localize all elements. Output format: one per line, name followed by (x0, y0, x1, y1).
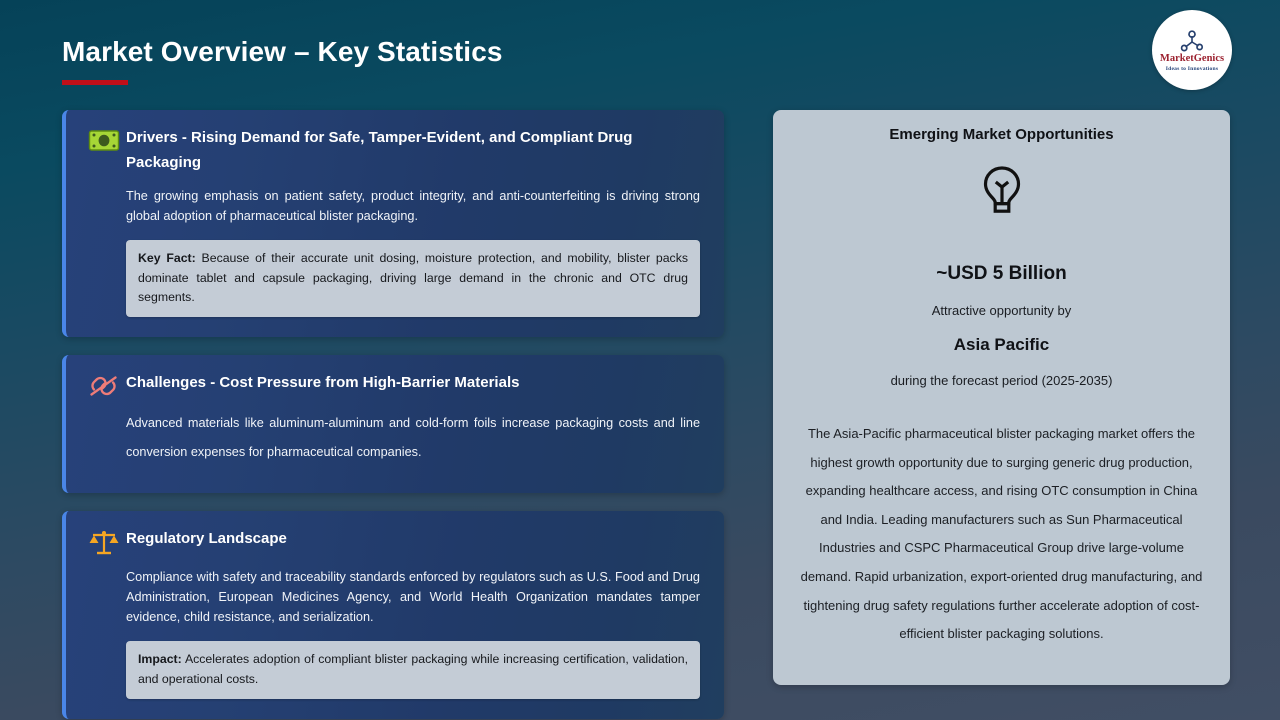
card-content: Challenges - Cost Pressure from High-Bar… (126, 371, 700, 396)
callout-label: Key Fact: (138, 251, 196, 265)
card-title: Regulatory Landscape (126, 527, 700, 552)
card-regulatory[interactable]: Regulatory Landscape Compliance with saf… (62, 511, 724, 720)
card-title: Challenges - Cost Pressure from High-Bar… (126, 371, 700, 396)
insight-cards-column: Drivers - Rising Demand for Safe, Tamper… (62, 110, 724, 719)
card-content: Regulatory Landscape (126, 527, 700, 552)
card-header: Challenges - Cost Pressure from High-Bar… (82, 371, 700, 399)
brand-logo: MarketGenics Ideas to Innovations (1152, 10, 1232, 90)
callout-text: Accelerates adoption of compliant bliste… (138, 652, 688, 685)
panel-title: Emerging Market Opportunities (791, 126, 1212, 143)
card-callout: Impact: Accelerates adoption of complian… (126, 641, 700, 699)
card-description: Advanced materials like aluminum-aluminu… (126, 409, 700, 466)
broken-link-icon (82, 371, 126, 399)
emerging-opportunities-panel[interactable]: Emerging Market Opportunities ~USD 5 Bil… (773, 110, 1230, 685)
card-content: Drivers - Rising Demand for Safe, Tamper… (126, 126, 700, 176)
panel-paragraph: The Asia-Pacific pharmaceutical blister … (791, 420, 1212, 649)
panel-region: Asia Pacific (791, 335, 1212, 355)
card-callout: Key Fact: Because of their accurate unit… (126, 240, 700, 317)
panel-forecast-period: during the forecast period (2025-2035) (791, 373, 1212, 388)
panel-subtitle: Attractive opportunity by (791, 303, 1212, 318)
card-header: Regulatory Landscape (82, 527, 700, 557)
card-title: Drivers - Rising Demand for Safe, Tamper… (126, 126, 700, 176)
molecule-node-icon (1179, 29, 1205, 53)
panel-market-value: ~USD 5 Billion (791, 263, 1212, 285)
slide-root: Market Overview – Key Statistics MarketG… (0, 0, 1280, 720)
callout-text: Because of their accurate unit dosing, m… (138, 251, 688, 304)
balance-scales-icon (82, 527, 126, 557)
slide-header: Market Overview – Key Statistics (62, 36, 503, 85)
card-challenges[interactable]: Challenges - Cost Pressure from High-Bar… (62, 355, 724, 492)
logo-tagline: Ideas to Innovations (1166, 66, 1219, 73)
card-description: The growing emphasis on patient safety, … (126, 186, 700, 227)
card-header: Drivers - Rising Demand for Safe, Tamper… (82, 126, 700, 176)
card-drivers[interactable]: Drivers - Rising Demand for Safe, Tamper… (62, 110, 724, 337)
logo-name: MarketGenics (1160, 54, 1224, 65)
money-banknote-icon (82, 126, 126, 154)
lightbulb-icon (791, 165, 1212, 219)
callout-label: Impact: (138, 652, 182, 666)
page-title: Market Overview – Key Statistics (62, 36, 503, 68)
card-description: Compliance with safety and traceability … (126, 567, 700, 628)
title-underline-rule (62, 80, 128, 85)
